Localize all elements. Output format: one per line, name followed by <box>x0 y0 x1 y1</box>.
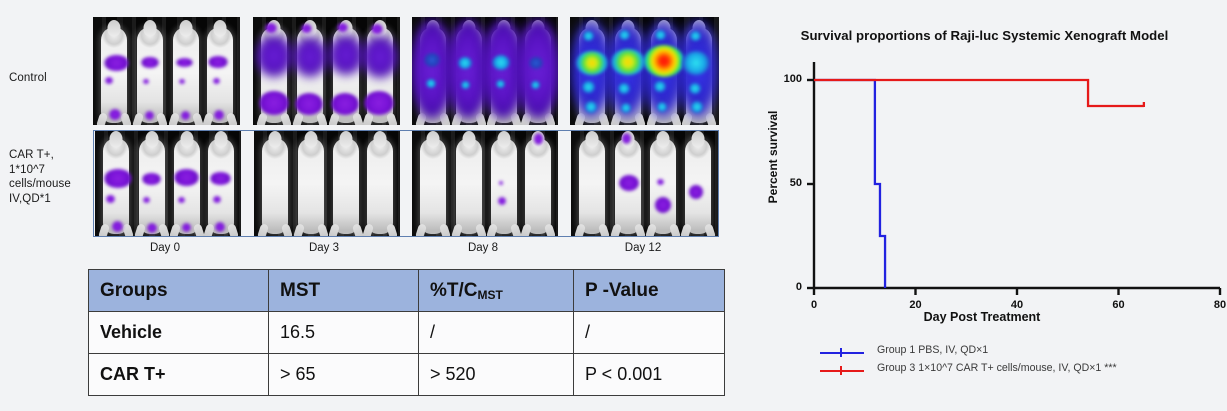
table-header-row: Groups MST %T/CMST P -Value <box>89 270 725 312</box>
timepoint-day-12: Day 12 <box>568 242 718 254</box>
chart-plot-area: Percent survival Day Post Treatment 0501… <box>742 0 1227 340</box>
cell-tc-car-t: > 520 <box>419 354 574 396</box>
cell-tc-vehicle: / <box>419 312 574 354</box>
cell-mst-car-t: > 65 <box>269 354 419 396</box>
imaging-panel-cart-day3 <box>254 131 400 236</box>
column-header-tc-subscript: MST <box>478 288 503 302</box>
imaging-panel-control-day12 <box>570 17 719 125</box>
bioluminescence-imaging-block: Control CAR T+, 1*10^7 cells/mouse IV,QD… <box>0 0 740 265</box>
y-tick-0: 0 <box>762 281 802 293</box>
column-header-p-value: P -Value <box>574 270 725 312</box>
cell-pvalue-vehicle: / <box>574 312 725 354</box>
timepoint-day-0: Day 0 <box>90 242 240 254</box>
table-row: Vehicle 16.5 / / <box>89 312 725 354</box>
imaging-row-car-t <box>93 130 719 237</box>
y-tick-100: 100 <box>762 73 802 85</box>
survival-chart: Survival proportions of Raji-luc Systemi… <box>742 0 1227 411</box>
column-header-mst: MST <box>269 270 419 312</box>
cell-mst-vehicle: 16.5 <box>269 312 419 354</box>
legend-swatch-blue-icon <box>820 350 864 356</box>
efficacy-summary-table: Groups MST %T/CMST P -Value Vehicle 16.5… <box>88 269 725 396</box>
x-tick-0: 0 <box>794 299 834 311</box>
imaging-panel-cart-day0 <box>95 131 241 236</box>
table-row: CAR T+ > 65 > 520 P < 0.001 <box>89 354 725 396</box>
cell-group-car-t: CAR T+ <box>89 354 269 396</box>
km-curve-svg <box>742 0 1227 340</box>
imaging-panel-cart-day8 <box>412 131 558 236</box>
imaging-panel-cart-day12 <box>571 131 718 236</box>
imaging-panel-control-day0 <box>93 17 240 125</box>
x-tick-80: 80 <box>1200 299 1227 311</box>
legend-label-group-3: Group 3 1×10^7 CAR T+ cells/mouse, IV, Q… <box>877 362 1117 374</box>
imaging-panel-control-day8 <box>412 17 558 125</box>
figure-root: Control CAR T+, 1*10^7 cells/mouse IV,QD… <box>0 0 1227 411</box>
imaging-panel-control-day3 <box>253 17 400 125</box>
column-header-tc-mst: %T/CMST <box>419 270 574 312</box>
imaging-row-control <box>93 17 719 125</box>
y-tick-50: 50 <box>762 177 802 189</box>
timepoint-day-3: Day 3 <box>249 242 399 254</box>
timepoint-labels: Day 0 Day 3 Day 8 Day 12 <box>93 242 719 262</box>
legend-label-group-1: Group 1 PBS, IV, QD×1 <box>877 344 988 356</box>
x-tick-60: 60 <box>1099 299 1139 311</box>
x-axis-label: Day Post Treatment <box>772 310 1192 324</box>
legend-swatch-red-icon <box>820 368 864 374</box>
x-tick-20: 20 <box>896 299 936 311</box>
x-tick-40: 40 <box>997 299 1037 311</box>
row-label-control: Control <box>9 71 47 86</box>
cell-group-vehicle: Vehicle <box>89 312 269 354</box>
y-axis-label: Percent survival <box>766 77 780 237</box>
column-header-groups: Groups <box>89 270 269 312</box>
column-header-tc-text: %T/C <box>430 280 478 301</box>
row-label-car-t: CAR T+, 1*10^7 cells/mouse IV,QD*1 <box>9 148 71 206</box>
timepoint-day-8: Day 8 <box>408 242 558 254</box>
cell-pvalue-car-t: P < 0.001 <box>574 354 725 396</box>
